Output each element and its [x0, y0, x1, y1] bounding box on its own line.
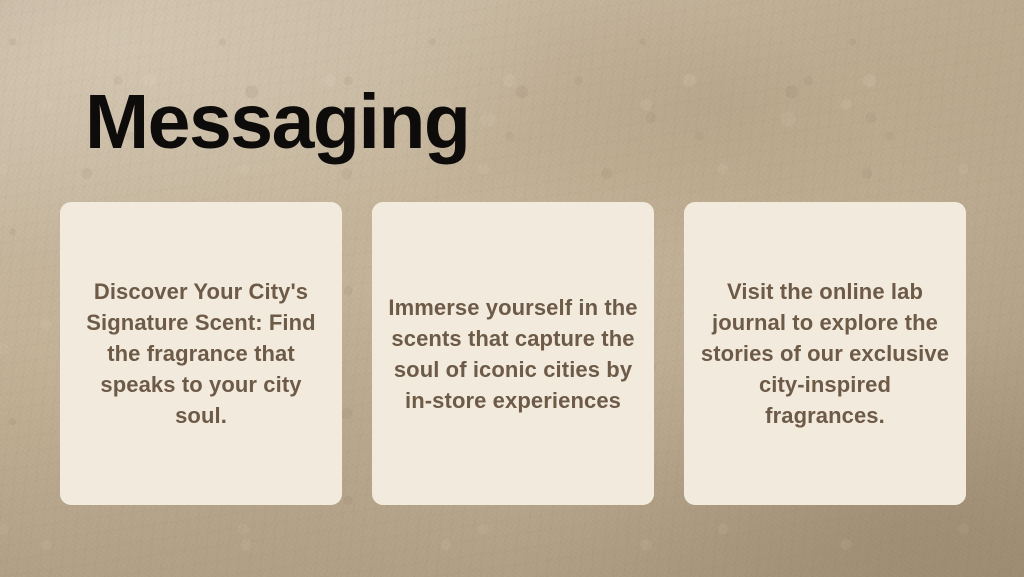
message-card-2-text: Immerse yourself in the scents that capt…	[386, 292, 640, 416]
message-card-1-text: Discover Your City's Signature Scent: Fi…	[74, 276, 328, 431]
message-card-2: Immerse yourself in the scents that capt…	[372, 202, 654, 505]
message-card-group: Discover Your City's Signature Scent: Fi…	[60, 202, 966, 505]
page-title: Messaging	[85, 84, 469, 161]
message-card-3-text: Visit the online lab journal to explore …	[698, 276, 952, 431]
message-card-3: Visit the online lab journal to explore …	[684, 202, 966, 505]
message-card-1: Discover Your City's Signature Scent: Fi…	[60, 202, 342, 505]
slide-canvas: Messaging Discover Your City's Signature…	[0, 0, 1024, 577]
